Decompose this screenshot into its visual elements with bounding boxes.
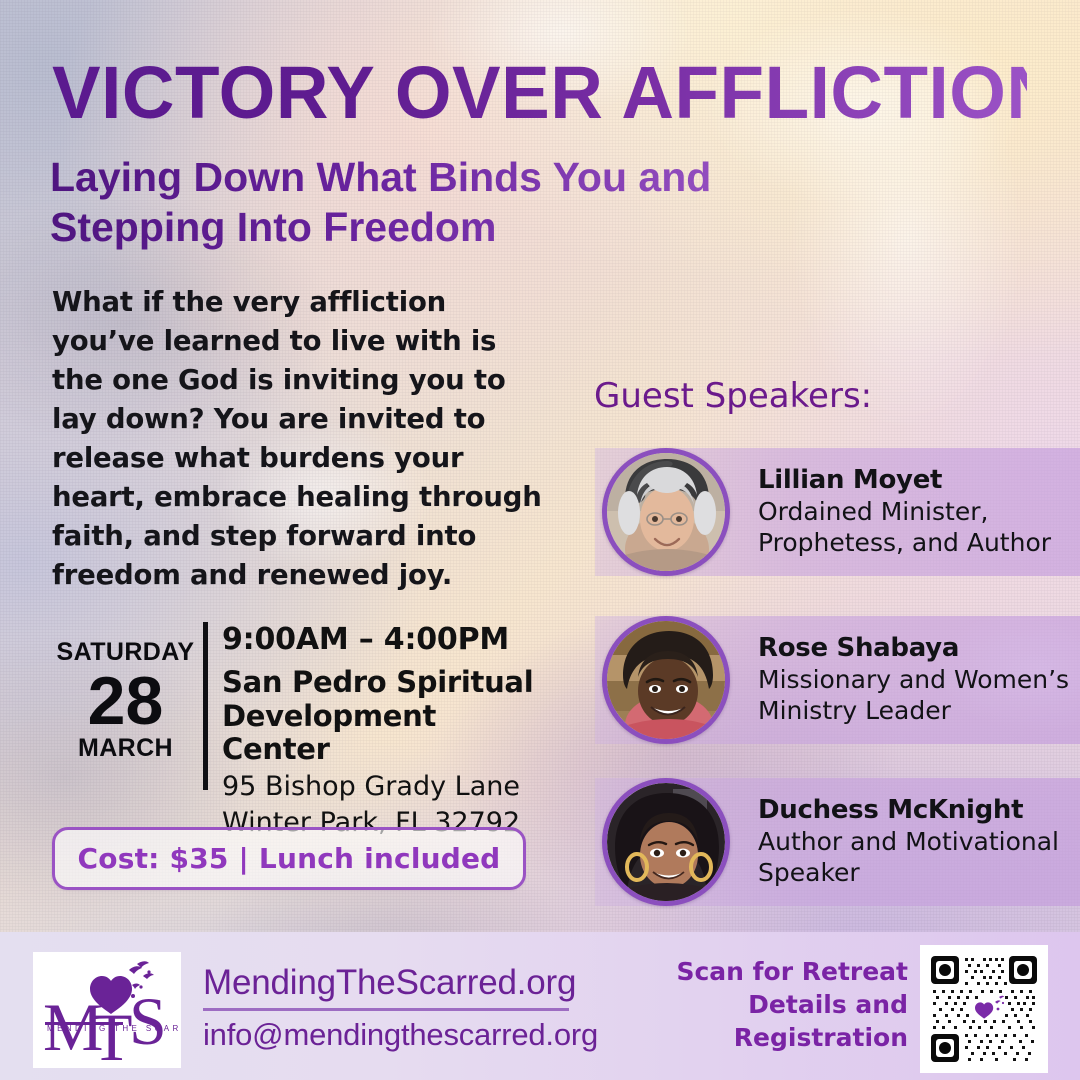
speaker-row: Rose Shabaya Missionary and Women’s Mini… [595, 616, 1080, 744]
speaker-portrait-rose [607, 621, 725, 739]
speaker-info: Duchess McKnight Author and Motivational… [758, 796, 1080, 888]
venue-block: 9:00AM – 4:00PM San Pedro Spiritual Deve… [222, 622, 552, 840]
footer-divider [203, 1008, 569, 1011]
cost-badge: Cost: $35 | Lunch included [52, 827, 526, 890]
svg-text:S: S [129, 983, 167, 1059]
flyer-description: What if the very affliction you’ve learn… [52, 283, 552, 595]
scan-instructions: Scan for Retreat Details and Registratio… [660, 955, 908, 1054]
avatar [602, 778, 730, 906]
avatar [602, 448, 730, 576]
event-date-block: SATURDAY 28 MARCH [48, 640, 203, 761]
speaker-info: Rose Shabaya Missionary and Women’s Mini… [758, 634, 1080, 726]
speaker-role: Ordained Minister, Prophetess, and Autho… [758, 497, 1080, 558]
website-link[interactable]: MendingTheScarred.org [203, 963, 603, 1003]
speaker-row: Lillian Moyet Ordained Minister, Prophet… [595, 448, 1080, 576]
email-link[interactable]: info@mendingthescarred.org [203, 1017, 633, 1053]
event-month: MARCH [48, 736, 203, 761]
organization-logo: M T S MENDING THE SCARRED [33, 952, 181, 1068]
event-flyer: VICTORY OVER AFFLICTION Laying Down What… [0, 0, 1080, 1080]
speaker-portrait-duchess [607, 783, 725, 901]
event-weekday: SATURDAY [48, 640, 203, 665]
venue-street: 95 Bishop Grady Lane [222, 771, 552, 803]
event-day-number: 28 [48, 669, 203, 734]
svg-text:MENDING THE SCARRED: MENDING THE SCARRED [47, 1024, 181, 1033]
speaker-name: Duchess McKnight [758, 796, 1080, 825]
venue-name: San Pedro Spiritual Development Center [222, 666, 552, 767]
qr-code[interactable] [920, 945, 1048, 1073]
speaker-name: Lillian Moyet [758, 466, 1080, 495]
flyer-title: VICTORY OVER AFFLICTION [52, 56, 1027, 130]
speaker-role: Author and Motivational Speaker [758, 827, 1080, 888]
event-time: 9:00AM – 4:00PM [222, 622, 552, 658]
speaker-info: Lillian Moyet Ordained Minister, Prophet… [758, 466, 1080, 558]
guest-speakers-heading: Guest Speakers: [594, 376, 872, 416]
speaker-role: Missionary and Women’s Ministry Leader [758, 665, 1080, 726]
flyer-subtitle: Laying Down What Binds You and Stepping … [50, 152, 770, 252]
avatar [602, 616, 730, 744]
speaker-name: Rose Shabaya [758, 634, 1080, 663]
vertical-divider [203, 622, 208, 790]
speaker-portrait-lillian [607, 453, 725, 571]
svg-text:T: T [91, 999, 133, 1068]
speaker-row: Duchess McKnight Author and Motivational… [595, 778, 1080, 906]
